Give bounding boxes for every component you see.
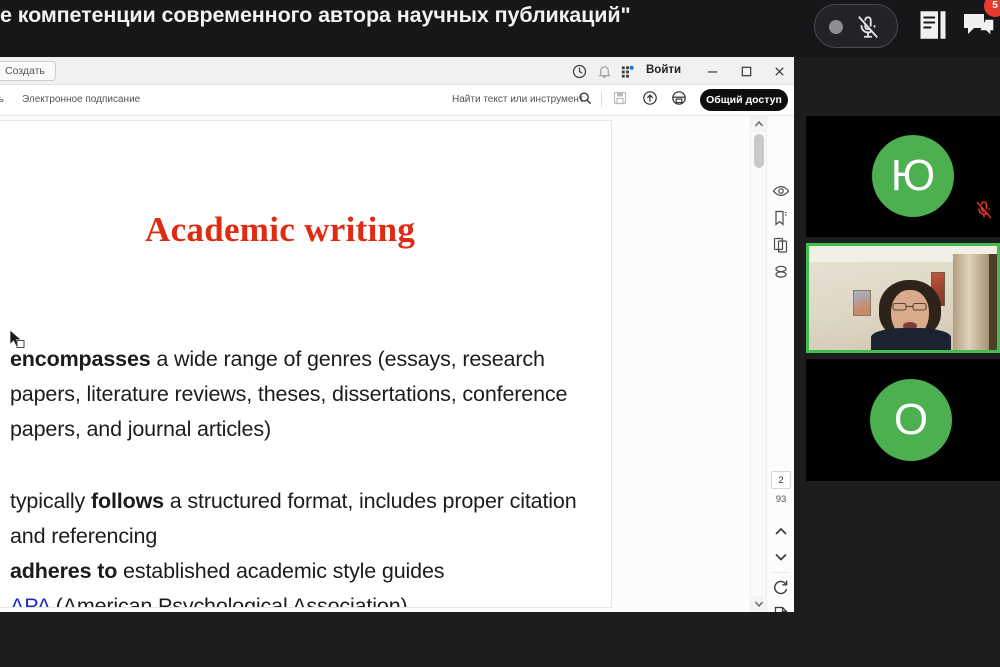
chevron-down-icon[interactable] xyxy=(772,548,790,566)
microphone-off-icon[interactable] xyxy=(855,14,881,40)
avatar: О xyxy=(870,379,952,461)
apa-link[interactable]: APA xyxy=(10,594,50,608)
close-icon[interactable] xyxy=(772,64,787,79)
document-canvas[interactable]: Academic writing encompasses a wide rang… xyxy=(0,116,750,612)
page-fit-icon[interactable] xyxy=(772,605,790,612)
maximize-icon[interactable] xyxy=(739,64,754,79)
participant-tile-2-speaking[interactable] xyxy=(806,243,1000,353)
view-eye-icon[interactable] xyxy=(772,182,790,200)
scroll-down-icon[interactable] xyxy=(751,596,767,612)
minimize-icon[interactable] xyxy=(705,64,720,79)
participant-tile-1[interactable]: Ю xyxy=(806,116,1000,237)
notes-icon[interactable] xyxy=(918,8,948,42)
pdf-page[interactable]: Academic writing encompasses a wide rang… xyxy=(0,120,612,608)
clock-history-icon[interactable] xyxy=(572,64,587,79)
person-torso xyxy=(871,328,951,350)
slide-paragraph-1: encompasses a wide range of genres (essa… xyxy=(10,342,585,447)
pdf-reader-window: + Создать Войти xyxy=(0,57,794,612)
apa-expansion: (American Psychological Association) xyxy=(50,594,408,608)
share-button[interactable]: Общий доступ xyxy=(700,89,788,111)
signin-button[interactable]: Войти xyxy=(646,64,681,76)
electronic-signing-menu[interactable]: Электронное подписание xyxy=(22,94,140,105)
current-page-input[interactable]: 2 xyxy=(771,471,791,489)
rail-divider xyxy=(773,572,789,573)
layers-icon[interactable] xyxy=(772,263,790,281)
chevron-up-icon[interactable] xyxy=(772,522,790,540)
toolbar-separator xyxy=(601,91,602,107)
page-thumbnails-icon[interactable] xyxy=(772,236,790,254)
bookmark-icon[interactable] xyxy=(772,209,790,227)
webcam-video-feed xyxy=(809,246,997,350)
microphone-toggle-pill[interactable] xyxy=(814,4,898,48)
upload-cloud-icon[interactable] xyxy=(642,90,658,106)
pdf-tool-rail: 2 93 xyxy=(766,116,794,612)
conference-top-bar: е компетенции современного автора научны… xyxy=(0,0,1000,57)
slide-paragraph-2: typically follows a structured format, i… xyxy=(10,484,585,554)
search-icon[interactable] xyxy=(578,91,592,105)
apps-grid-icon[interactable] xyxy=(620,64,635,79)
paragraph-3-keyword: adheres to xyxy=(10,559,117,583)
pdf-window-titlebar: + Создать Войти xyxy=(0,57,794,85)
paragraph-2-keyword: follows xyxy=(91,489,164,513)
audio-level-dot xyxy=(829,20,843,34)
pdf-toolbar: ть Электронное подписание Найти текст ил… xyxy=(0,85,794,116)
toolbar-truncated-item[interactable]: ть xyxy=(0,94,4,105)
create-button[interactable]: + Создать xyxy=(0,61,56,81)
microphone-off-icon xyxy=(976,201,992,219)
door-opening xyxy=(989,254,997,350)
participant-tile-3[interactable]: О xyxy=(806,359,1000,481)
scrollbar-thumb[interactable] xyxy=(754,134,764,168)
rotate-icon[interactable] xyxy=(772,578,790,596)
wall-picture-left xyxy=(853,290,871,316)
door-frame xyxy=(953,254,993,350)
conference-title: е компетенции современного автора научны… xyxy=(0,3,631,28)
paragraph-3-text: established academic style guides xyxy=(117,559,444,583)
create-button-label: Создать xyxy=(5,65,45,77)
slide-paragraph-3: adheres to established academic style gu… xyxy=(10,554,585,608)
document-scrollbar[interactable] xyxy=(750,116,766,612)
mouse-pointer-icon xyxy=(8,329,30,351)
scroll-up-icon[interactable] xyxy=(751,116,767,132)
total-pages-label: 93 xyxy=(767,494,794,505)
paragraph-2-lead: typically xyxy=(10,489,91,513)
avatar: Ю xyxy=(872,135,954,217)
print-icon[interactable] xyxy=(671,90,687,106)
save-icon[interactable] xyxy=(612,90,628,106)
find-field-label[interactable]: Найти текст или инструмент xyxy=(452,94,584,105)
paragraph-1-keyword: encompasses xyxy=(10,347,151,371)
eyeglasses xyxy=(891,302,929,311)
bell-icon[interactable] xyxy=(597,64,612,79)
plus-icon: + xyxy=(0,67,1,77)
slide-title: Academic writing xyxy=(145,210,415,250)
